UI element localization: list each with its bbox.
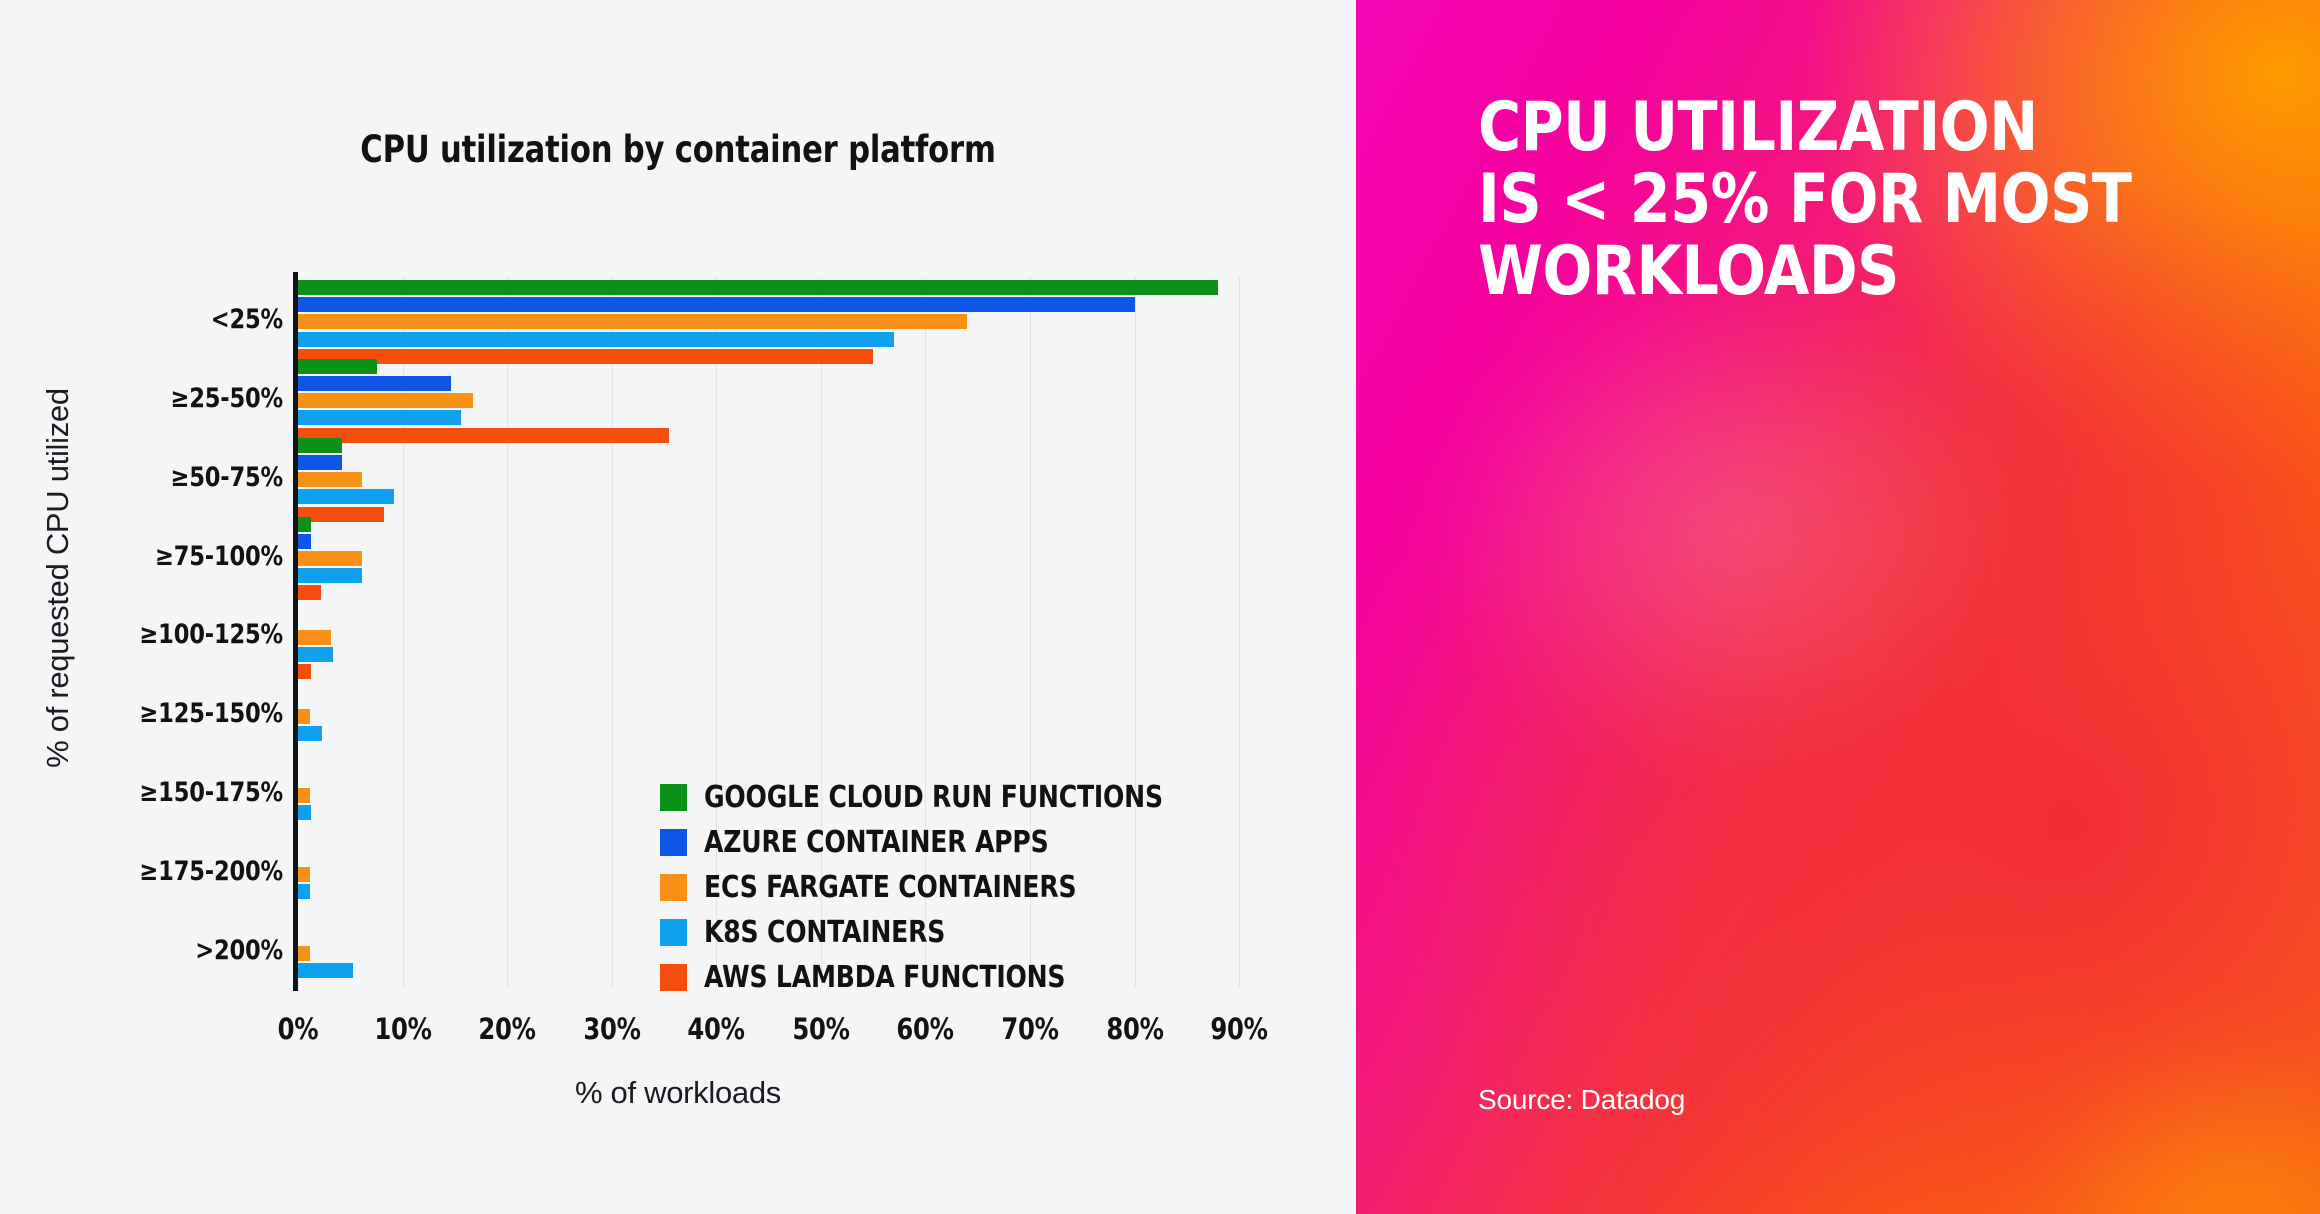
bar[interactable] — [298, 438, 342, 453]
bar[interactable] — [298, 884, 310, 899]
bar[interactable] — [298, 551, 362, 566]
bar[interactable] — [298, 489, 394, 504]
legend-item[interactable]: K8S CONTAINERS — [660, 910, 1197, 955]
bar[interactable] — [298, 376, 451, 391]
x-tick-label: 0% — [242, 1012, 354, 1046]
bar[interactable] — [298, 946, 310, 961]
bar[interactable] — [298, 359, 377, 374]
legend-item[interactable]: AWS LAMBDA FUNCTIONS — [660, 955, 1197, 1000]
source-credit: Source: Datadog — [1478, 1084, 1685, 1116]
legend-swatch-icon — [660, 964, 687, 991]
bar[interactable] — [298, 788, 310, 803]
bar-group — [298, 674, 1260, 758]
bar-group — [298, 359, 1260, 443]
bar[interactable] — [298, 393, 473, 408]
legend-item-label: GOOGLE CLOUD RUN FUNCTIONS — [704, 780, 1163, 815]
legend-swatch-icon — [660, 874, 687, 901]
y-tick-label: ≥150-175% — [41, 777, 283, 808]
y-tick-label: ≥50-75% — [41, 462, 283, 493]
legend-swatch-icon — [660, 784, 687, 811]
legend-item-label: AZURE CONTAINER APPS — [704, 825, 1048, 860]
legend-swatch-icon — [660, 829, 687, 856]
legend-item[interactable]: ECS FARGATE CONTAINERS — [660, 865, 1197, 910]
bar[interactable] — [298, 534, 311, 549]
y-tick-label: ≥100-125% — [41, 619, 283, 650]
bar[interactable] — [298, 517, 311, 532]
bar[interactable] — [298, 568, 362, 583]
x-tick-label: 60% — [870, 1012, 982, 1046]
y-tick-label: <25% — [41, 304, 283, 335]
bar[interactable] — [298, 630, 331, 645]
x-tick-label: 90% — [1183, 1012, 1295, 1046]
x-tick-label: 70% — [974, 1012, 1086, 1046]
bar[interactable] — [298, 709, 310, 724]
chart-panel: CPU utilization by container platform % … — [0, 0, 1356, 1214]
legend-swatch-icon — [660, 919, 687, 946]
y-tick-label: ≥25-50% — [41, 383, 283, 414]
callout-panel: CPU UTILIZATION IS < 25% FOR MOST WORKLO… — [1356, 0, 2320, 1214]
bar[interactable] — [298, 472, 362, 487]
legend-item[interactable]: AZURE CONTAINER APPS — [660, 820, 1197, 865]
x-tick-label: 30% — [556, 1012, 668, 1046]
legend-item-label: ECS FARGATE CONTAINERS — [704, 870, 1076, 905]
bar[interactable] — [298, 726, 322, 741]
bar-group — [298, 280, 1260, 364]
legend-item-label: AWS LAMBDA FUNCTIONS — [704, 960, 1065, 995]
x-tick-label: 20% — [451, 1012, 563, 1046]
bar[interactable] — [298, 805, 311, 820]
x-tick-label: 40% — [660, 1012, 772, 1046]
chart-legend: GOOGLE CLOUD RUN FUNCTIONSAZURE CONTAINE… — [660, 775, 1197, 1000]
chart-title: CPU utilization by container platform — [54, 128, 1302, 171]
x-tick-label: 80% — [1079, 1012, 1191, 1046]
y-tick-label: ≥175-200% — [41, 856, 283, 887]
bar[interactable] — [298, 297, 1135, 312]
infographic-root: CPU utilization by container platform % … — [0, 0, 2320, 1214]
y-tick-label: ≥125-150% — [41, 698, 283, 729]
bar[interactable] — [298, 963, 353, 978]
y-axis-tick-labels: <25%≥25-50%≥50-75%≥75-100%≥100-125%≥125-… — [18, 277, 283, 987]
bar[interactable] — [298, 280, 1218, 295]
x-tick-label: 50% — [765, 1012, 877, 1046]
bar-group — [298, 596, 1260, 680]
callout-headline: CPU UTILIZATION IS < 25% FOR MOST WORKLO… — [1478, 92, 2208, 308]
bar-group — [298, 438, 1260, 522]
y-tick-label: >200% — [41, 935, 283, 966]
y-tick-label: ≥75-100% — [41, 541, 283, 572]
bar[interactable] — [298, 332, 894, 347]
x-axis-title: % of workloads — [0, 1075, 1356, 1111]
legend-item-label: K8S CONTAINERS — [704, 915, 945, 950]
bar[interactable] — [298, 867, 310, 882]
x-tick-label: 10% — [347, 1012, 459, 1046]
bar-group — [298, 517, 1260, 601]
bar[interactable] — [298, 455, 342, 470]
legend-item[interactable]: GOOGLE CLOUD RUN FUNCTIONS — [660, 775, 1197, 820]
bar[interactable] — [298, 410, 461, 425]
bar[interactable] — [298, 314, 967, 329]
bar[interactable] — [298, 647, 333, 662]
